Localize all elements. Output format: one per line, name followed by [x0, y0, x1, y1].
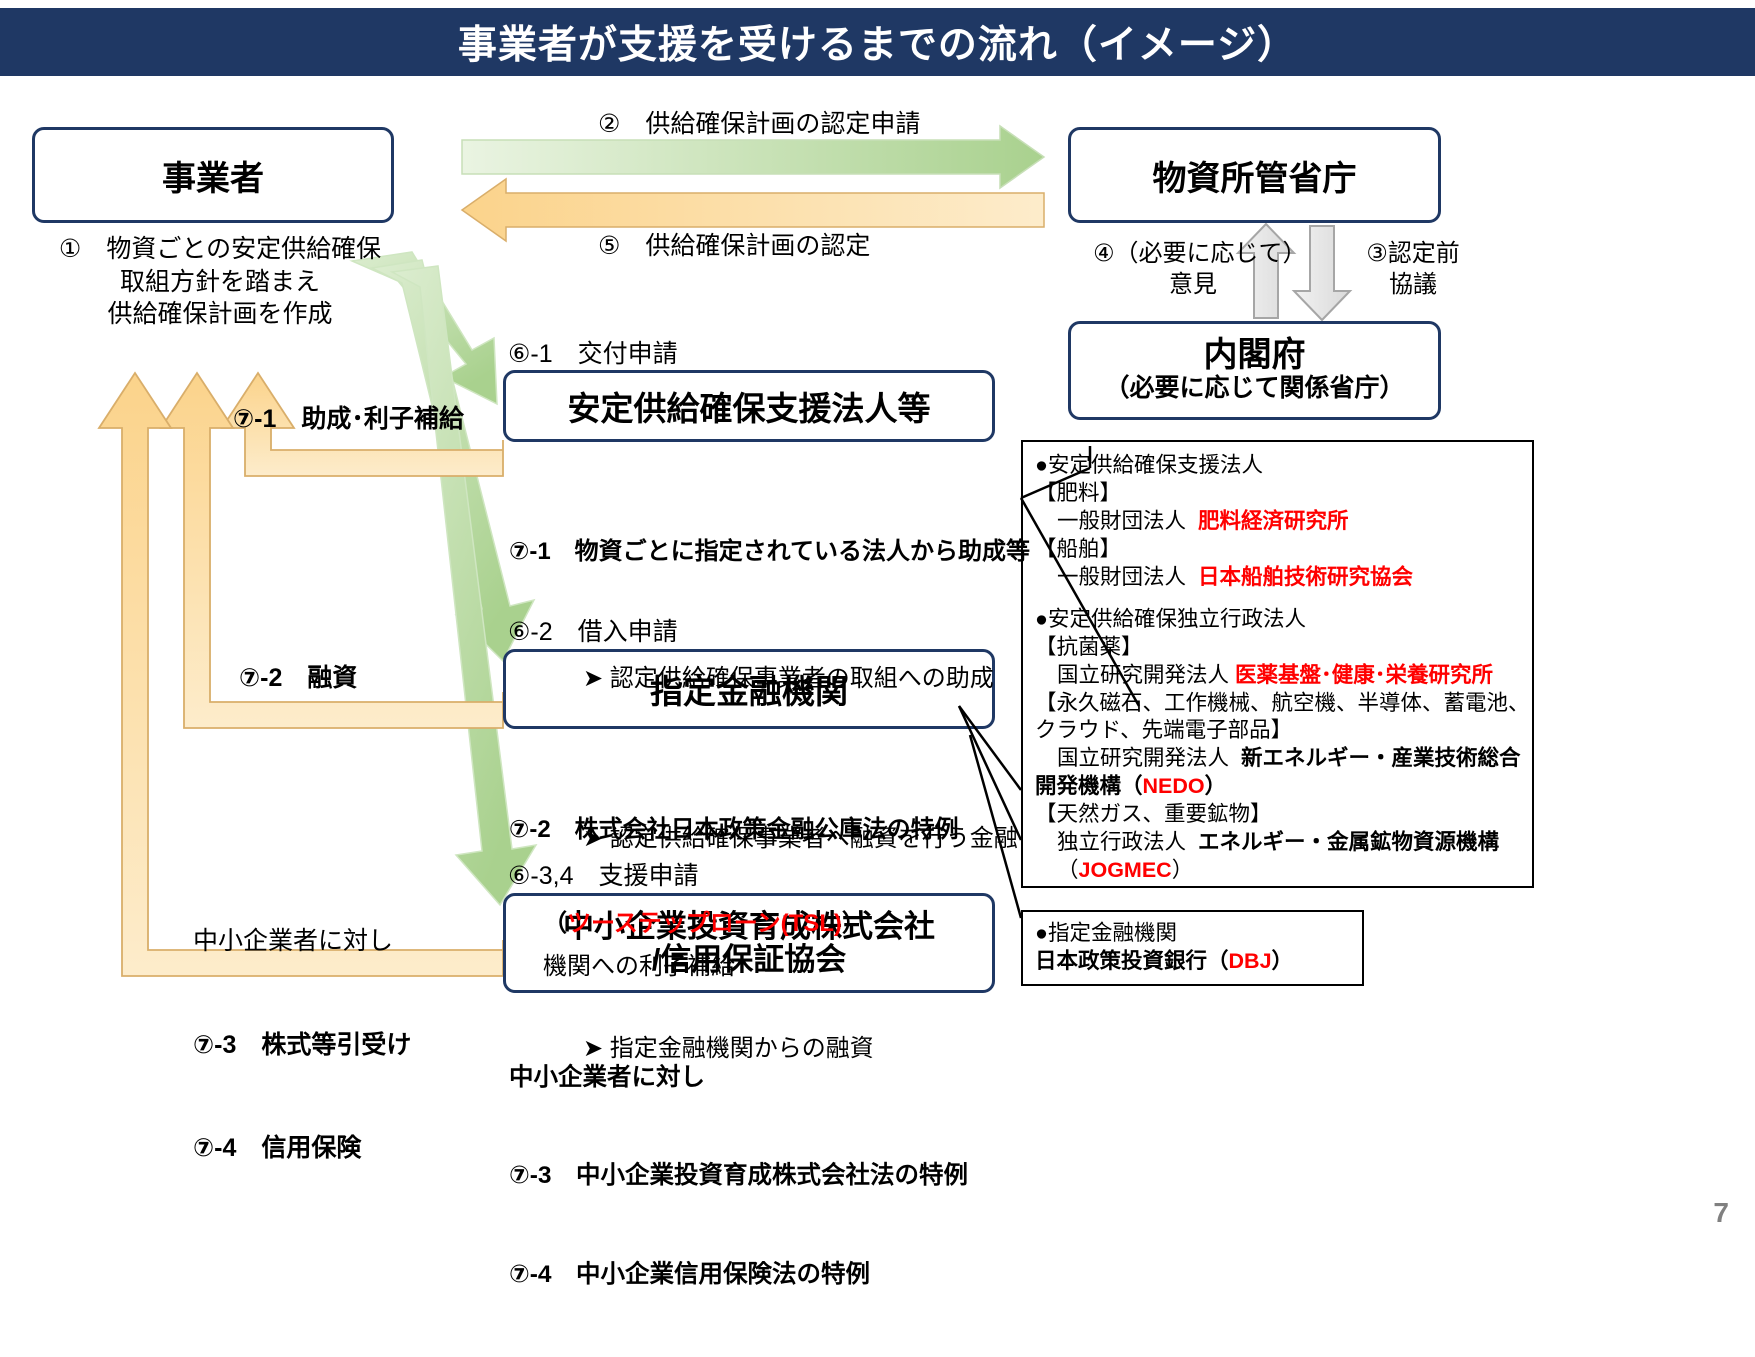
org-abbr-jogmec: JOGMEC: [1079, 858, 1172, 882]
org-prefix: 国立研究開発法人: [1057, 663, 1229, 687]
org-name-highlight: 医薬基盤･健康･栄養研究所: [1235, 663, 1493, 687]
org-group-2-item-2-category: 【永久磁石、工作機械、航空機、半導体、蓄電池、: [1035, 690, 1524, 718]
sme-detail-intro: 中小企業者に対し: [509, 1062, 1009, 1095]
org-group-2-item-2-line1: 国立研究開発法人 新エネルギー・産業技術総合: [1035, 745, 1524, 773]
org-group-2-header: ●安定供給確保独立行政法人: [1035, 606, 1524, 634]
label-sme-support-left: 中小企業者に対し ⑦-3 株式等引受け ⑦-4 信用保険: [193, 855, 411, 1235]
dbj-header: ●指定金融機関: [1035, 920, 1354, 948]
org-group-2-item-2-category2: クラウド、先端電子部品】: [1035, 717, 1524, 745]
sme-detail-block: 中小企業者に対し ⑦-3 中小企業投資育成株式会社法の特例 ⑦-4 中小企業信用…: [509, 996, 1009, 1357]
paren-open: （: [1057, 858, 1079, 882]
sme-detail-line-2: ⑦-4 中小企業信用保険法の特例: [509, 1259, 1009, 1292]
panel-spacer: [1035, 592, 1524, 606]
paren-close: ）: [1272, 949, 1294, 973]
support-org-bullet-1-text: 認定供給確保事業者の取組への助成: [610, 665, 994, 692]
label-step-1: ① 物資ごとの安定供給確保 取組方針を踏まえ 供給確保計画を作成: [55, 233, 385, 331]
sme-detail-line-1: ⑦-3 中小企業投資育成株式会社法の特例: [509, 1160, 1009, 1193]
box-cabinet-office[interactable]: 内閣府 （必要に応じて関係省庁）: [1068, 321, 1441, 420]
org-group-2-item-1-category: 【抗菌薬】: [1035, 634, 1524, 662]
org-group-1-item-1: 一般財団法人 肥料経済研究所: [1035, 508, 1524, 536]
org-prefix: 一般財団法人: [1057, 509, 1186, 533]
org-group-2-item-2-line2: 開発機構（NEDO）: [1035, 773, 1524, 801]
box-cabinet-office-sublabel: （必要に応じて関係省庁）: [1104, 374, 1404, 403]
org-prefix: 一般財団法人: [1057, 565, 1186, 589]
label-step-7-1-subsidy: ⑦-1 助成･利子補給: [233, 399, 464, 435]
box-business-operator-label: 事業者: [162, 151, 264, 200]
org-prefix: 独立行政法人: [1057, 830, 1186, 854]
org-name-highlight: 日本船舶技術研究協会: [1198, 565, 1413, 589]
org-group-1-header: ●安定供給確保支援法人: [1035, 452, 1524, 480]
label-step-7-3-shares: ⑦-3 株式等引受け: [193, 1028, 411, 1063]
panel-designated-organizations: ●安定供給確保支援法人 【肥料】 一般財団法人 肥料経済研究所 【船舶】 一般財…: [1021, 440, 1534, 888]
panel-designated-financial-institution: ●指定金融機関 日本政策投資銀行（DBJ）: [1021, 910, 1364, 986]
org-name-highlight: 肥料経済研究所: [1198, 509, 1349, 533]
org-group-2-item-3-line1: 独立行政法人 エネルギー・金属鉱物資源機構: [1035, 829, 1524, 857]
org-group-1-item-1-category: 【肥料】: [1035, 480, 1524, 508]
org-abbr-nedo: NEDO: [1143, 774, 1205, 798]
paren-open: （: [1207, 949, 1229, 973]
label-step-7-2-loan: ⑦-2 融資: [239, 658, 357, 694]
box-stable-supply-support-org[interactable]: 安定供給確保支援法人等: [503, 370, 995, 442]
slide-canvas: 事業者が支援を受けるまでの流れ（イメージ）: [0, 0, 1755, 1241]
paren-open: （: [543, 910, 567, 937]
bank-detail-subheading: （ツーステップローン(TSL)）: [509, 908, 1009, 939]
label-step-3: ③認定前 協議: [1358, 238, 1468, 300]
org-name-bold: エネルギー・金属鉱物資源機構: [1198, 830, 1499, 854]
support-org-detail-heading: ⑦-1 物資ごとに指定されている法人から助成等: [509, 536, 1009, 568]
box-business-operator[interactable]: 事業者: [32, 127, 394, 223]
paren-close: ）: [842, 910, 866, 937]
org-group-2-item-1: 国立研究開発法人 医薬基盤･健康･栄養研究所: [1035, 662, 1524, 690]
label-step-6-1: ⑥-1 交付申請: [508, 334, 678, 370]
org-prefix: 国立研究開発法人: [1057, 746, 1229, 770]
chevron-bullet-icon: ➤: [583, 665, 610, 692]
label-step-4: ④（必要に応じて） 意見: [1093, 238, 1293, 300]
box-materials-ministry-label: 物資所管省庁: [1153, 151, 1357, 200]
org-name-bold: 新エネルギー・産業技術総合: [1241, 746, 1521, 770]
org-group-1-item-2-category: 【船舶】: [1035, 536, 1524, 564]
paren-close: ）: [1172, 858, 1194, 882]
paren-open: （: [1121, 774, 1143, 798]
label-step-2: ② 供給確保計画の認定申請: [598, 104, 920, 140]
box-stable-supply-support-org-label: 安定供給確保支援法人等: [568, 382, 931, 430]
dbj-abbr: DBJ: [1229, 949, 1272, 973]
bank-detail-heading: ⑦-2 株式会社日本政策金融公庫法の特例: [509, 814, 1009, 845]
org-group-1-item-2: 一般財団法人 日本船舶技術研究協会: [1035, 564, 1524, 592]
dbj-name: 日本政策投資銀行: [1035, 949, 1207, 973]
box-cabinet-office-label: 内閣府: [1204, 338, 1306, 374]
bank-detail-tsl-text: ツーステップローン(TSL): [567, 910, 842, 937]
label-sme-support-intro: 中小企業者に対し: [193, 924, 411, 959]
dbj-name-line: 日本政策投資銀行（DBJ）: [1035, 948, 1354, 976]
label-step-5: ⑤ 供給確保計画の認定: [598, 226, 870, 262]
paren-close: ）: [1205, 774, 1227, 798]
support-org-bullet-1: ➤ 認定供給確保事業者の取組への助成: [509, 632, 1009, 728]
box-materials-ministry[interactable]: 物資所管省庁: [1068, 127, 1441, 223]
label-step-7-4-credit-insurance: ⑦-4 信用保険: [193, 1131, 411, 1166]
org-name-bold-cont: 開発機構: [1035, 774, 1121, 798]
org-group-2-item-3-category: 【天然ガス、重要鉱物】: [1035, 801, 1524, 829]
org-group-2-item-3-line2: （JOGMEC）: [1035, 857, 1524, 885]
